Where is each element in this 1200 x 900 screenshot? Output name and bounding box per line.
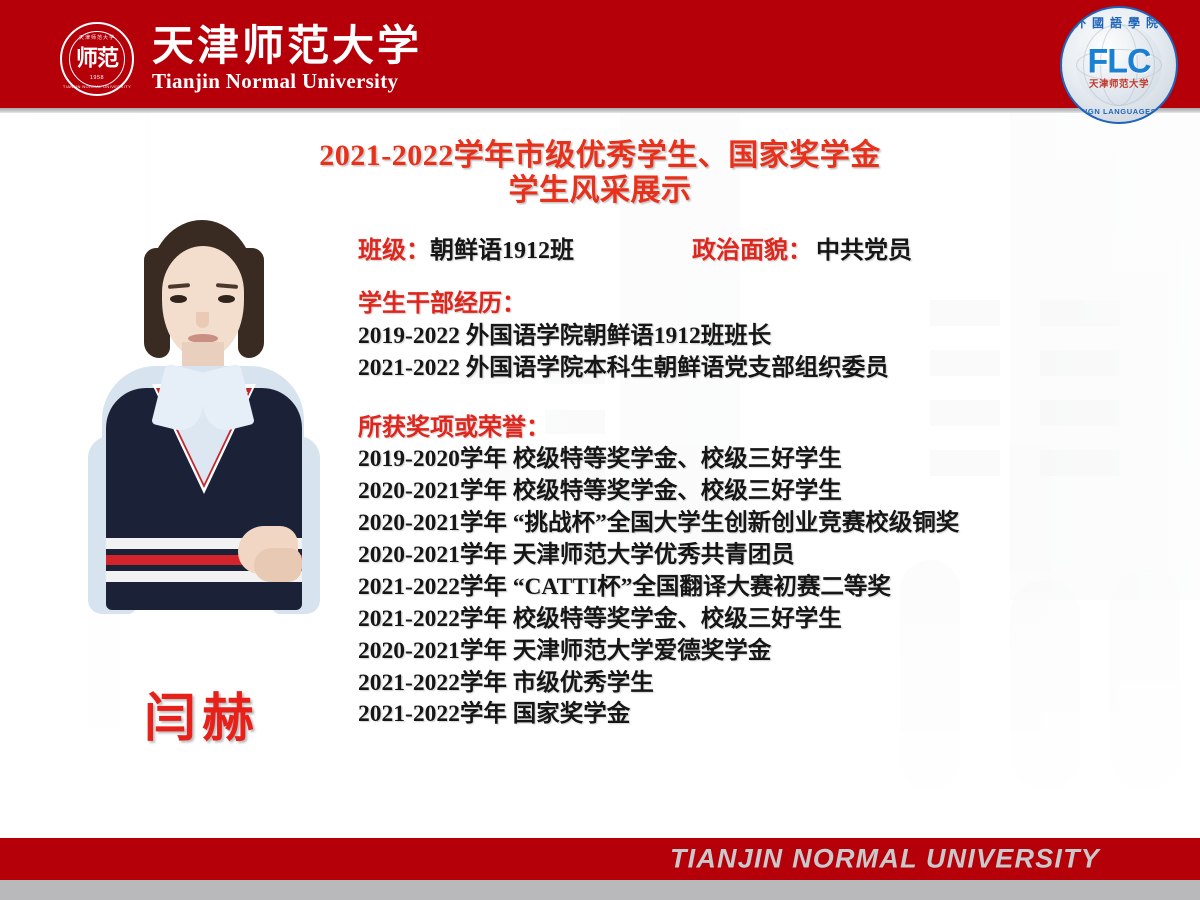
seal-founding-year: 1958	[62, 75, 132, 81]
presentation-slide: 天津师范大学 师范 1958 TIANJIN NORMAL UNIVERSITY…	[0, 0, 1200, 900]
slide-title-line-2: 学生风采展示	[0, 173, 1200, 208]
list-item: 2020-2021学年 天津师范大学爱德奖学金	[358, 636, 1158, 668]
awards-honors-heading: 所获奖项或荣誉：	[358, 407, 1158, 442]
political-status-pair: 政治面貌： 中共党员	[692, 230, 912, 265]
foreign-languages-college-badge: 外國語學院 FLC 天津师范大学 FOREIGN LANGUAGES COLLE…	[1060, 6, 1178, 124]
cadre-experience-list: 2019-2022 外国语学院朝鲜语1912班班长 2021-2022 外国语学…	[358, 320, 1158, 385]
university-seal-icon: 天津师范大学 师范 1958 TIANJIN NORMAL UNIVERSITY	[60, 22, 134, 96]
university-name-block: 天津师范大学 Tianjin Normal University	[152, 25, 422, 93]
badge-english-arc: FOREIGN LANGUAGES COLLEGE	[1062, 107, 1176, 116]
footer-bar: TIANJIN NORMAL UNIVERSITY	[0, 838, 1200, 880]
seal-arc-bottom-text: TIANJIN NORMAL UNIVERSITY	[62, 84, 132, 89]
list-item: 2020-2021学年 “挑战杯”全国大学生创新创业竞赛校级铜奖	[358, 508, 1158, 540]
seal-arc-top-text: 天津师范大学	[62, 34, 132, 41]
awards-honors-section: 所获奖项或荣誉： 2019-2020学年 校级特等奖学金、校级三好学生 2020…	[358, 407, 1158, 732]
slide-title-line-1: 2021-2022学年市级优秀学生、国家奖学金	[0, 138, 1200, 173]
slide-title: 2021-2022学年市级优秀学生、国家奖学金 学生风采展示	[0, 138, 1200, 209]
list-item: 2021-2022学年 校级特等奖学金、校级三好学生	[358, 604, 1158, 636]
badge-chinese-center: 天津师范大学	[1062, 76, 1176, 90]
list-item: 2021-2022 外国语学院本科生朝鲜语党支部组织委员	[358, 352, 1158, 384]
political-status-label: 政治面貌：	[692, 238, 812, 264]
footer-gray-strip	[0, 880, 1200, 900]
university-logo-group: 天津师范大学 师范 1958 TIANJIN NORMAL UNIVERSITY…	[60, 22, 422, 96]
footer-university-text: TIANJIN NORMAL UNIVERSITY	[670, 844, 1100, 875]
seal-center-chars: 师范	[76, 48, 118, 70]
list-item: 2020-2021学年 校级特等奖学金、校级三好学生	[358, 476, 1158, 508]
list-item: 2021-2022学年 国家奖学金	[358, 699, 1158, 731]
basic-info-row: 班级： 朝鲜语1912班 政治面貌： 中共党员	[358, 230, 1158, 265]
cadre-experience-section: 学生干部经历： 2019-2022 外国语学院朝鲜语1912班班长 2021-2…	[358, 283, 1158, 385]
list-item: 2020-2021学年 天津师范大学优秀共青团员	[358, 540, 1158, 572]
class-label: 班级：	[358, 230, 430, 265]
student-portrait-photo	[62, 208, 342, 658]
university-name-en: Tianjin Normal University	[152, 70, 422, 93]
cadre-experience-heading: 学生干部经历：	[358, 283, 1158, 318]
student-info-panel: 班级： 朝鲜语1912班 政治面貌： 中共党员 学生干部经历： 2019-202…	[358, 230, 1158, 731]
student-name: 闫赫	[62, 676, 342, 751]
list-item: 2019-2022 外国语学院朝鲜语1912班班长	[358, 320, 1158, 352]
header-divider	[0, 108, 1200, 113]
class-value: 朝鲜语1912班	[430, 230, 574, 265]
list-item: 2021-2022学年 “CATTI杯”全国翻译大赛初赛二等奖	[358, 572, 1158, 604]
university-name-cn: 天津师范大学	[152, 25, 422, 69]
badge-chinese-arc-top: 外國語學院	[1062, 14, 1176, 31]
awards-honors-list: 2019-2020学年 校级特等奖学金、校级三好学生 2020-2021学年 校…	[358, 444, 1158, 732]
list-item: 2019-2020学年 校级特等奖学金、校级三好学生	[358, 444, 1158, 476]
list-item: 2021-2022学年 市级优秀学生	[358, 668, 1158, 700]
political-status-value: 中共党员	[816, 238, 912, 264]
